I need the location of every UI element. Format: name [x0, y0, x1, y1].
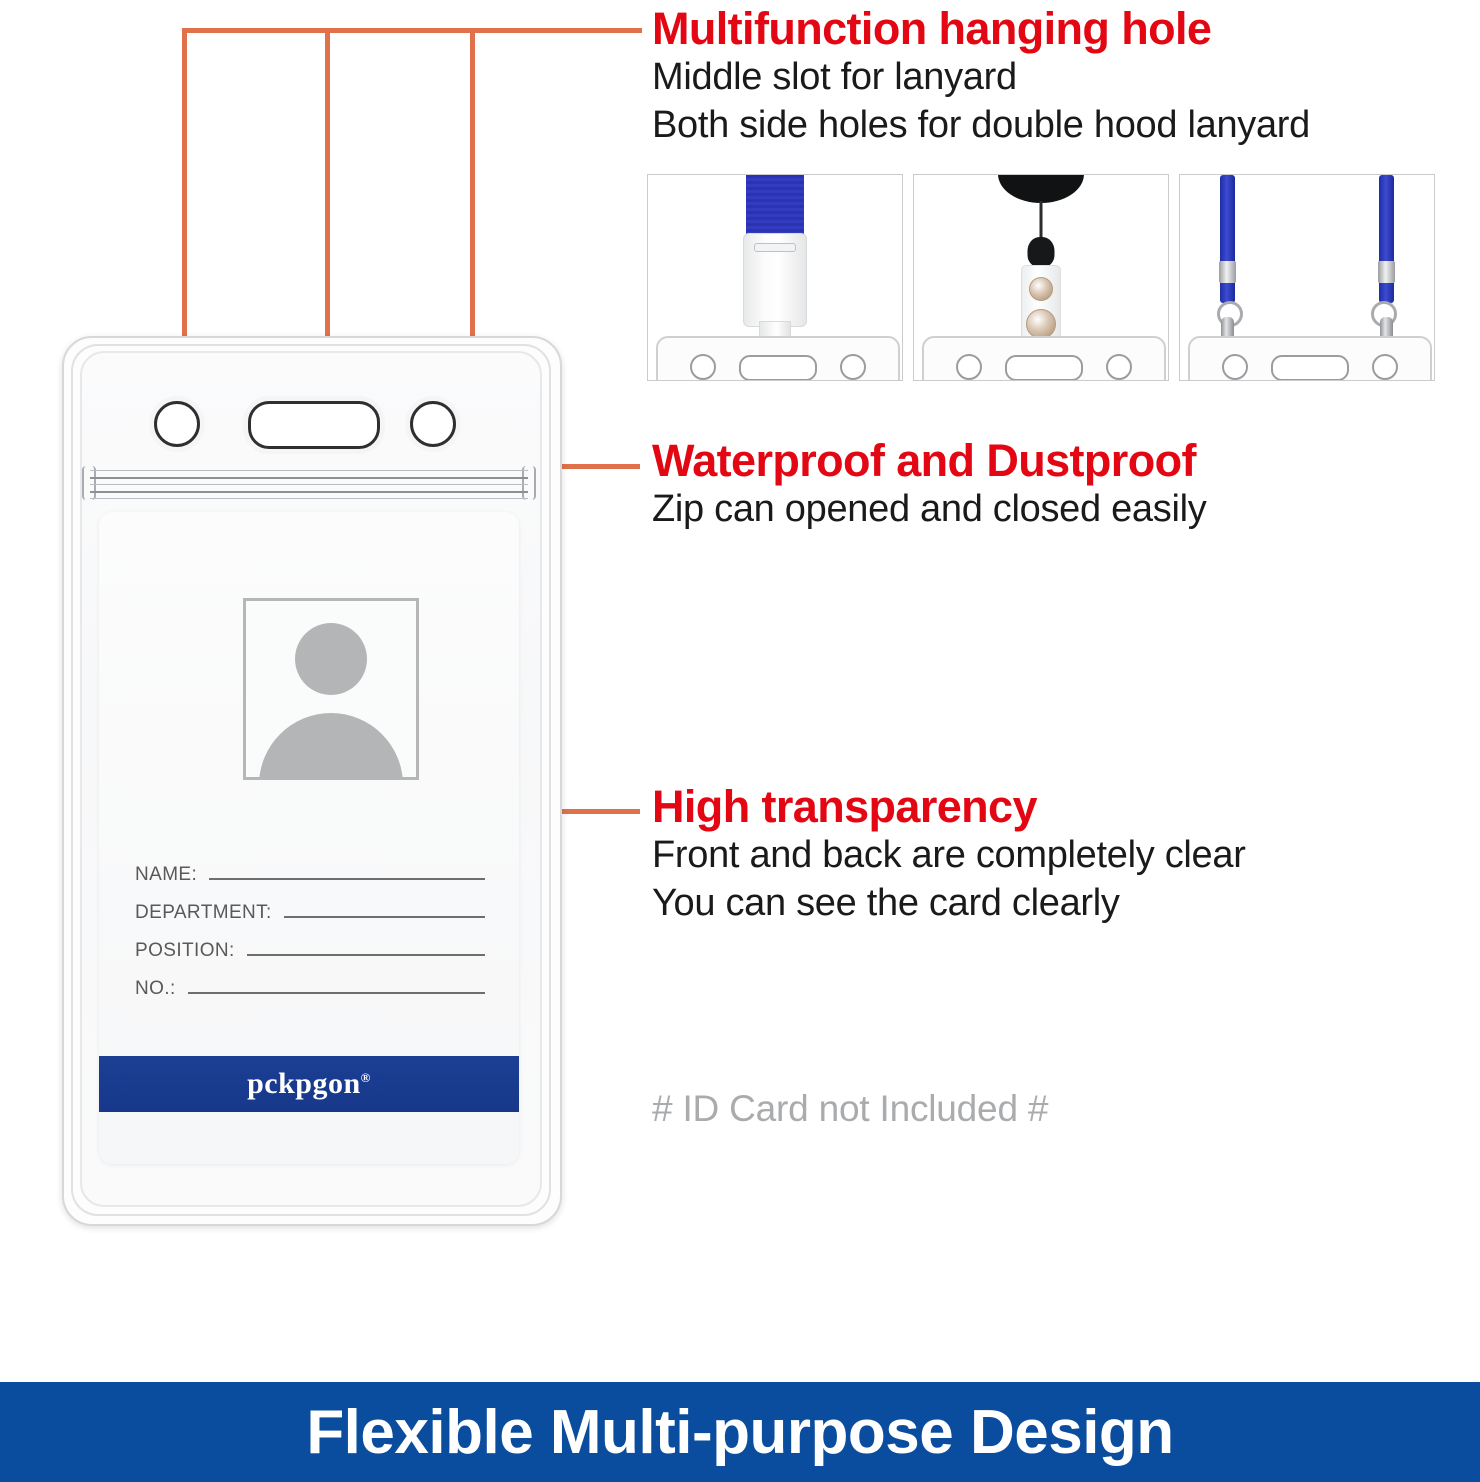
card-field-row: NO.:: [135, 978, 485, 1000]
card-field-line: [188, 991, 485, 994]
card-field-label-position: POSITION:: [135, 940, 235, 962]
callout-hanging-line1: Middle slot for lanyard: [652, 53, 1310, 102]
mini-side-hole-left: [690, 354, 716, 380]
mini-side-hole-left: [956, 354, 982, 380]
zip-line: [90, 498, 528, 499]
retractable-badge-reel-photo: [913, 174, 1169, 381]
mini-badge-top-edge: [1188, 336, 1432, 381]
card-field-label-name: NAME:: [135, 864, 197, 886]
person-silhouette-icon: [243, 598, 419, 780]
mini-center-slot: [739, 355, 817, 381]
card-field-row: POSITION:: [135, 940, 485, 962]
callout-hanging-title: Multifunction hanging hole: [652, 6, 1310, 53]
thumbnail-row: [647, 174, 1435, 381]
side-hole-right: [410, 401, 456, 447]
lanyard-ferrule-left: [1219, 261, 1236, 283]
mini-badge-top-edge: [922, 336, 1166, 381]
zip-line: [90, 470, 528, 471]
card-field-label-no: NO.:: [135, 978, 176, 1000]
zip-line: [90, 491, 528, 493]
badge-holder-illustration: NAME: DEPARTMENT: POSITION: NO.: pckpgon: [62, 336, 562, 1226]
callout-hanging-hole: Multifunction hanging hole Middle slot f…: [652, 6, 1310, 150]
side-hole-left: [154, 401, 200, 447]
callout-transparency: High transparency Front and back are com…: [652, 784, 1246, 928]
zip-end-right: [522, 466, 536, 500]
flat-lanyard-clip-photo: [647, 174, 903, 381]
flat-lanyard-strap: [746, 175, 804, 237]
mini-center-slot: [1005, 355, 1083, 381]
zip-seal-band: [82, 464, 536, 504]
bottom-banner: Flexible Multi-purpose Design: [0, 1382, 1480, 1482]
callout-waterproof-title: Waterproof and Dustproof: [652, 438, 1206, 485]
banner-headline: Flexible Multi-purpose Design: [306, 1397, 1173, 1468]
disclaimer-text: # ID Card not Included #: [652, 1088, 1048, 1130]
card-field-line: [209, 877, 485, 880]
brand-name: pckpgon: [247, 1067, 361, 1100]
leader-rail-top: [182, 28, 642, 33]
mini-badge-top-edge: [656, 336, 900, 381]
silhouette-head: [295, 623, 367, 695]
zip-line: [90, 484, 528, 485]
mini-center-slot: [1271, 355, 1349, 381]
strap-snap-bottom: [1026, 309, 1056, 339]
lanyard-cord-left: [1220, 175, 1235, 303]
reel-connector-knot: [1028, 237, 1055, 267]
callout-transparency-title: High transparency: [652, 784, 1246, 831]
callout-transparency-line1: Front and back are completely clear: [652, 831, 1246, 880]
lanyard-cord-right: [1379, 175, 1394, 303]
badge-reel-housing: [998, 174, 1084, 203]
mini-side-hole-right: [840, 354, 866, 380]
double-hook-lanyard-photo: [1179, 174, 1435, 381]
mini-side-hole-right: [1372, 354, 1398, 380]
mini-side-hole-right: [1106, 354, 1132, 380]
silhouette-body: [259, 713, 403, 780]
card-field-line: [284, 915, 485, 918]
callout-hanging-line2: Both side holes for double hood lanyard: [652, 101, 1310, 150]
zip-line: [90, 477, 528, 479]
id-card-insert: NAME: DEPARTMENT: POSITION: NO.: pckpgon: [99, 512, 519, 1164]
brand-bar: pckpgon®: [99, 1056, 519, 1112]
clip-slot: [754, 243, 796, 252]
strap-snap-top: [1029, 277, 1053, 301]
card-field-list: NAME: DEPARTMENT: POSITION: NO.:: [135, 864, 485, 1016]
lanyard-ferrule-right: [1378, 261, 1395, 283]
hanging-hole-strip: [80, 351, 538, 466]
brand-logo: pckpgon®: [247, 1067, 371, 1101]
card-field-line: [247, 953, 485, 956]
product-infographic: NAME: DEPARTMENT: POSITION: NO.: pckpgon: [0, 0, 1480, 1482]
card-field-row: DEPARTMENT:: [135, 902, 485, 924]
registered-mark-icon: ®: [361, 1070, 371, 1085]
center-lanyard-slot: [248, 401, 380, 449]
callout-waterproof: Waterproof and Dustproof Zip can opened …: [652, 438, 1206, 533]
card-field-label-department: DEPARTMENT:: [135, 902, 272, 924]
mini-side-hole-left: [1222, 354, 1248, 380]
callout-waterproof-line1: Zip can opened and closed easily: [652, 485, 1206, 534]
zip-end-left: [82, 466, 96, 500]
card-field-row: NAME:: [135, 864, 485, 886]
callout-transparency-line2: You can see the card clearly: [652, 879, 1246, 928]
